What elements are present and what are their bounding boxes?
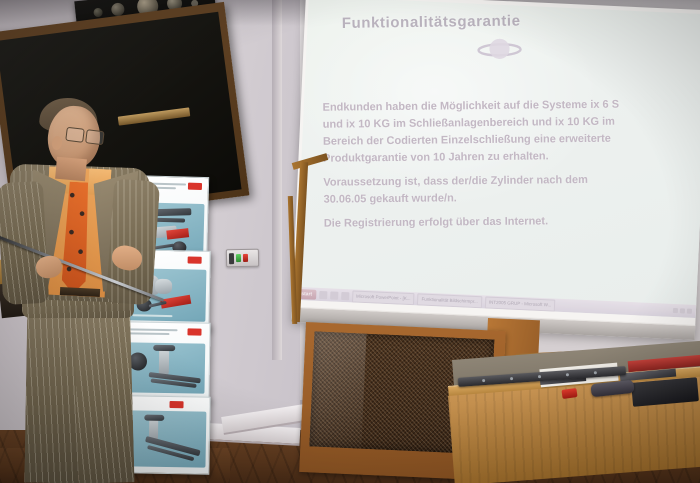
projected-slide: Funktionalitätsgarantie Endkunden haben … <box>295 0 700 318</box>
screen-control-panel[interactable] <box>226 249 259 268</box>
control-green-button[interactable] <box>236 254 241 262</box>
taskbar-item-slideshow[interactable]: Funktionalität Bildschirmpr... <box>417 293 482 308</box>
slide-line-3: Bereich der Codierten Einzelschließung e… <box>323 130 700 149</box>
tray-icon-2[interactable] <box>680 308 685 313</box>
taskbar-item-powerpoint[interactable]: Microsoft PowerPoint - [K... <box>352 290 415 305</box>
tray-icon-1[interactable] <box>673 308 678 313</box>
sleeve-left <box>0 181 49 305</box>
saturn-icon <box>476 26 523 73</box>
control-red-button[interactable] <box>243 254 248 262</box>
quicklaunch-icon-2[interactable] <box>330 291 338 299</box>
cabinet-glass-reflection <box>309 331 366 448</box>
control-panel-display <box>229 253 234 264</box>
slide-line-2: und ix 10 KG im Schließanlagenbereich un… <box>323 113 700 132</box>
lens-left <box>65 127 85 143</box>
slide-line-4: Produktgarantie von 10 Jahren zu erhalte… <box>323 147 700 166</box>
slide-body: Endkunden haben die Möglichkeit auf die … <box>323 96 700 240</box>
system-tray[interactable] <box>673 308 694 314</box>
photo-scene: Funktionalitätsgarantie Endkunden haben … <box>0 0 700 483</box>
quicklaunch-icon-3[interactable] <box>341 291 349 299</box>
projection-screen: Funktionalitätsgarantie Endkunden haben … <box>291 0 700 340</box>
poster-logo-1 <box>188 183 202 190</box>
presenter <box>0 96 190 483</box>
taskbar-item-word[interactable]: INT2005 GRUP - Microsoft W... <box>485 296 556 311</box>
slide-line-7: Die Registrierung erfolgt über das Inter… <box>324 212 700 231</box>
slide-line-6: 30.06.05 gekauft wurde/n. <box>323 188 700 207</box>
lens-right <box>85 129 105 145</box>
tray-icon-3[interactable] <box>687 309 692 314</box>
neck <box>55 157 87 182</box>
wall-corner <box>272 0 282 360</box>
slide-line-5: Voraussetzung ist, dass der/die Zylinder… <box>323 171 700 190</box>
slide-line-1: Endkunden haben die Möglichkeit auf die … <box>323 96 700 115</box>
panel-dot-1 <box>93 8 103 18</box>
quicklaunch-icon-1[interactable] <box>319 290 327 298</box>
